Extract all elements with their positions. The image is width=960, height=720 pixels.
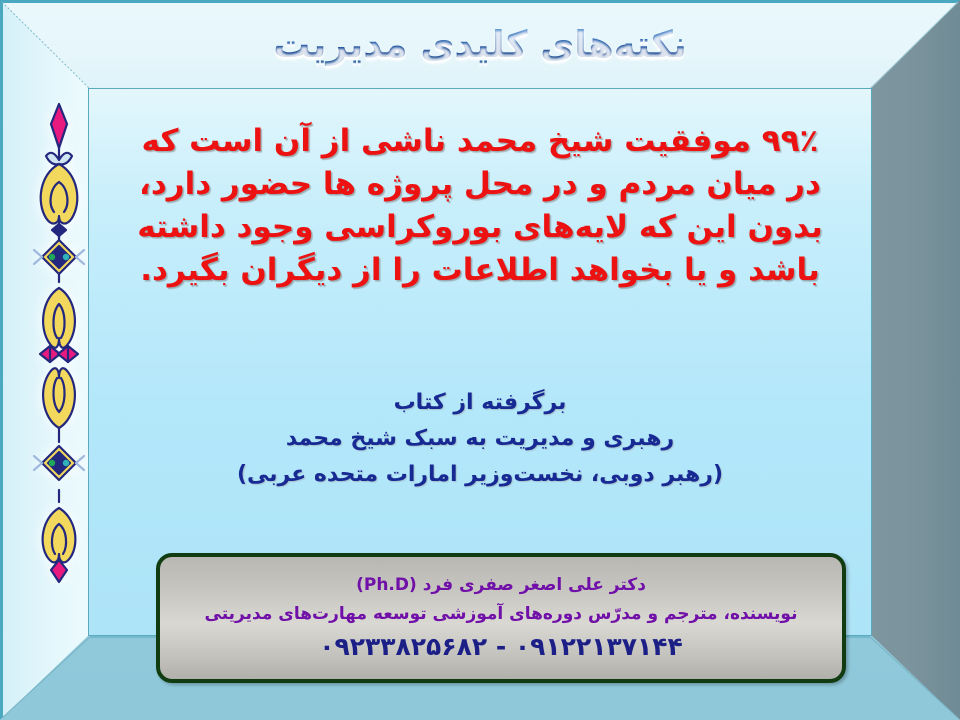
- contact-phone-numbers: ۰۹۱۲۲۱۳۷۱۴۴ - ۰۹۲۳۳۸۲۵۶۸۲: [319, 629, 683, 665]
- quote-line-4: باشد و یا بخواهد اطلاعات را از دیگران بگ…: [108, 249, 852, 292]
- source-line-2: رهبری و مدیریت به سبک شیخ محمد: [108, 421, 852, 457]
- quote-line-1: ۹۹٪ موفقیت شیخ محمد ناشی از آن است که: [108, 120, 852, 163]
- quote-line-2: در میان مردم و در محل پروژه ها حضور دارد…: [108, 163, 852, 206]
- author-role: نویسنده، مترجم و مدرّس دوره‌های آموزشی ت…: [205, 599, 798, 629]
- source-line-3: (رهبر دوبی، نخست‌وزیر امارات متحده عربی): [108, 457, 852, 493]
- slide-root: نکته‌های کلیدی مدیریت: [0, 0, 960, 720]
- right-wall-surface: [868, 0, 960, 720]
- persian-arabesque-ornament-icon: [30, 98, 88, 584]
- quote-line-3: بدون این که لایه‌های بوروکراسی وجود داشت…: [108, 206, 852, 249]
- source-block: برگرفته از کتاب رهبری و مدیریت به سبک شی…: [108, 385, 852, 493]
- source-line-1: برگرفته از کتاب: [108, 385, 852, 421]
- quote-block: ۹۹٪ موفقیت شیخ محمد ناشی از آن است که در…: [108, 120, 852, 292]
- footer-contact-box: دکتر علی اصغر صفری فرد (Ph.D) نویسنده، م…: [156, 553, 846, 683]
- author-name: دکتر علی اصغر صفری فرد (Ph.D): [356, 571, 646, 599]
- ceiling-surface: [0, 0, 960, 93]
